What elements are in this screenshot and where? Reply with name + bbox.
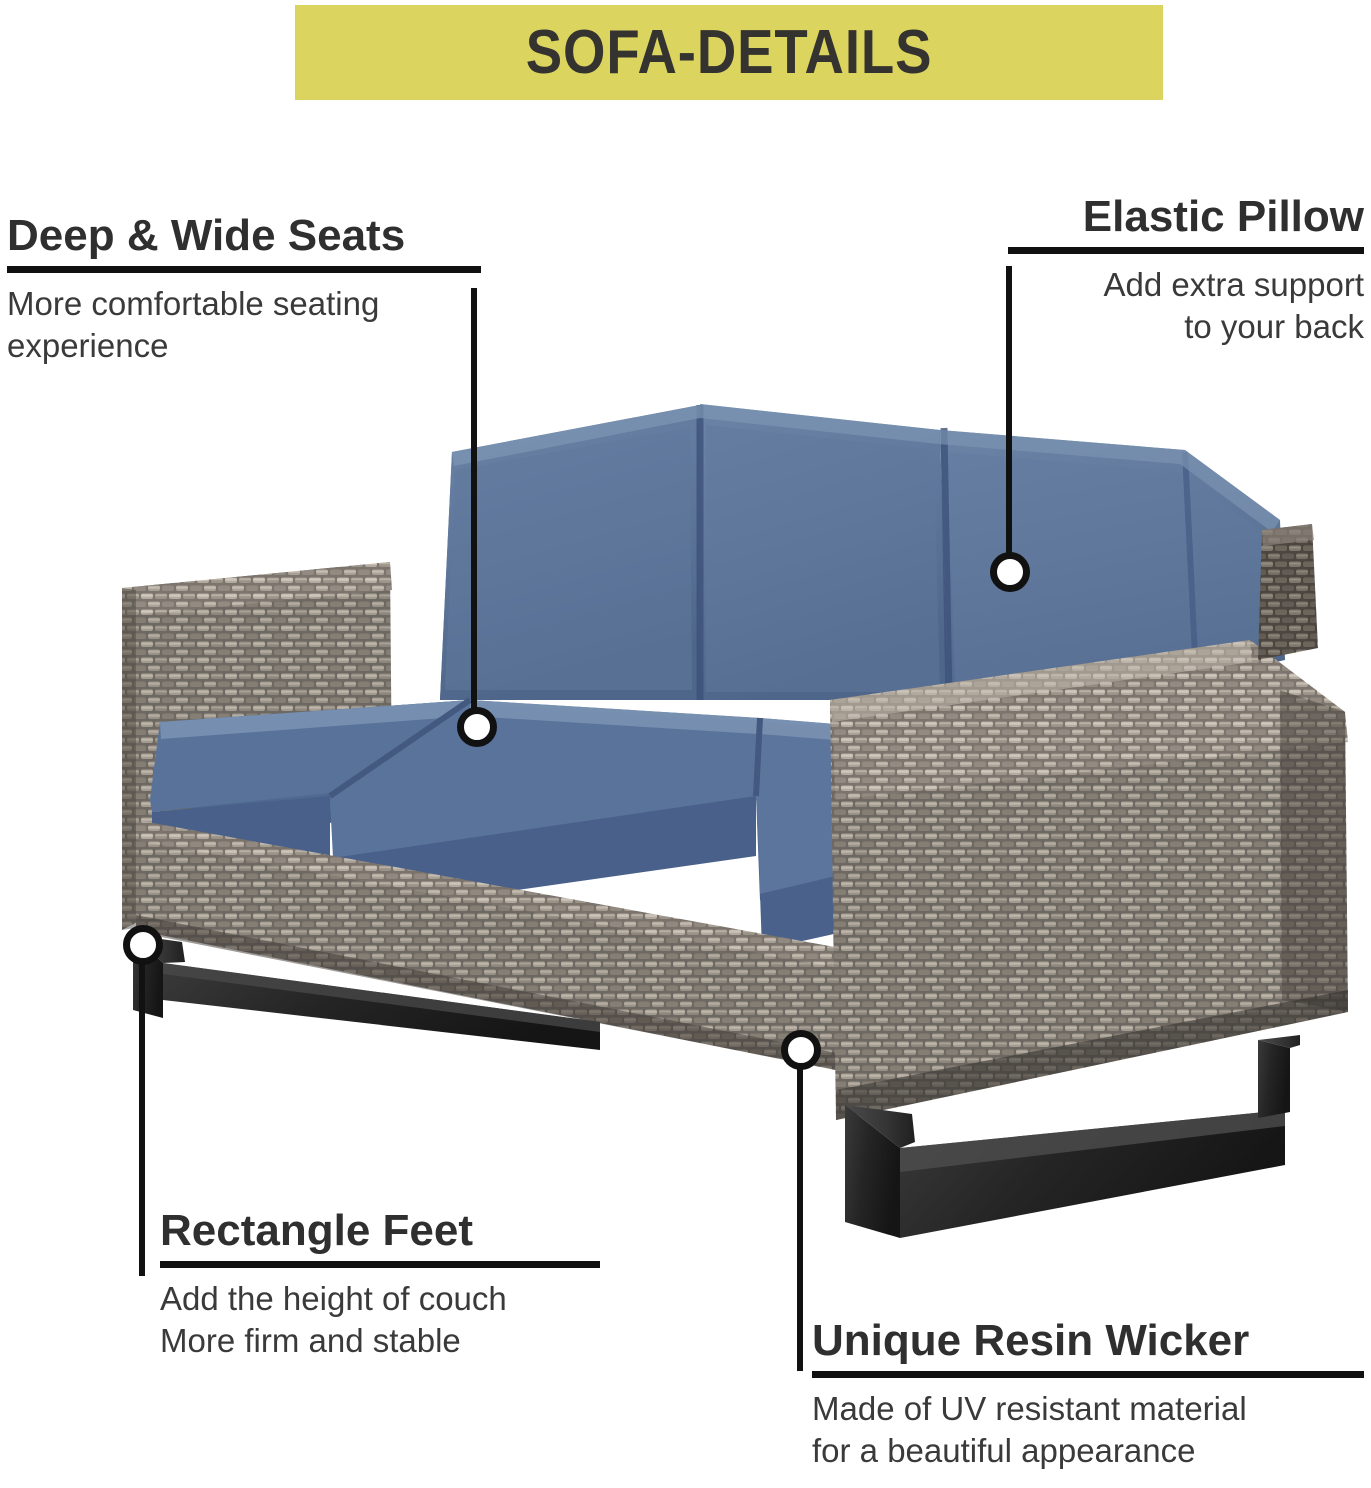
- callout-body: Made of UV resistant material for a beau…: [812, 1388, 1364, 1472]
- callout-elastic-pillow: Elastic Pillow Add extra support to your…: [1018, 194, 1364, 348]
- leader-line-deep-wide-seats: [471, 288, 477, 730]
- marker-dot-deep-wide-seats: [457, 707, 497, 747]
- callout-deep-wide-seats: Deep & Wide Seats More comfortable seati…: [7, 213, 481, 367]
- leader-line-rectangle-feet: [139, 944, 145, 1276]
- marker-dot-elastic-pillow: [990, 552, 1030, 592]
- callout-body: Add extra support to your back: [1018, 264, 1364, 348]
- callout-heading: Rectangle Feet: [160, 1208, 600, 1255]
- callout-rule: [1008, 247, 1364, 254]
- right-rear-post: [1258, 524, 1318, 660]
- callout-heading: Unique Resin Wicker: [812, 1318, 1364, 1365]
- callout-unique-resin-wicker: Unique Resin Wicker Made of UV resistant…: [812, 1318, 1364, 1472]
- leader-line-unique-resin-wicker: [797, 1049, 803, 1371]
- marker-dot-rectangle-feet: [123, 925, 163, 965]
- callout-heading: Elastic Pillow: [1018, 194, 1364, 241]
- callout-body: Add the height of couch More firm and st…: [160, 1278, 600, 1362]
- callout-body: More comfortable seating experience: [7, 283, 481, 367]
- leader-line-elastic-pillow: [1006, 266, 1012, 576]
- callout-rectangle-feet: Rectangle Feet Add the height of couch M…: [160, 1208, 600, 1362]
- callout-heading: Deep & Wide Seats: [7, 213, 481, 260]
- callout-rule: [160, 1261, 600, 1268]
- callout-rule: [812, 1371, 1364, 1378]
- marker-dot-unique-resin-wicker: [781, 1030, 821, 1070]
- callout-rule: [7, 266, 481, 273]
